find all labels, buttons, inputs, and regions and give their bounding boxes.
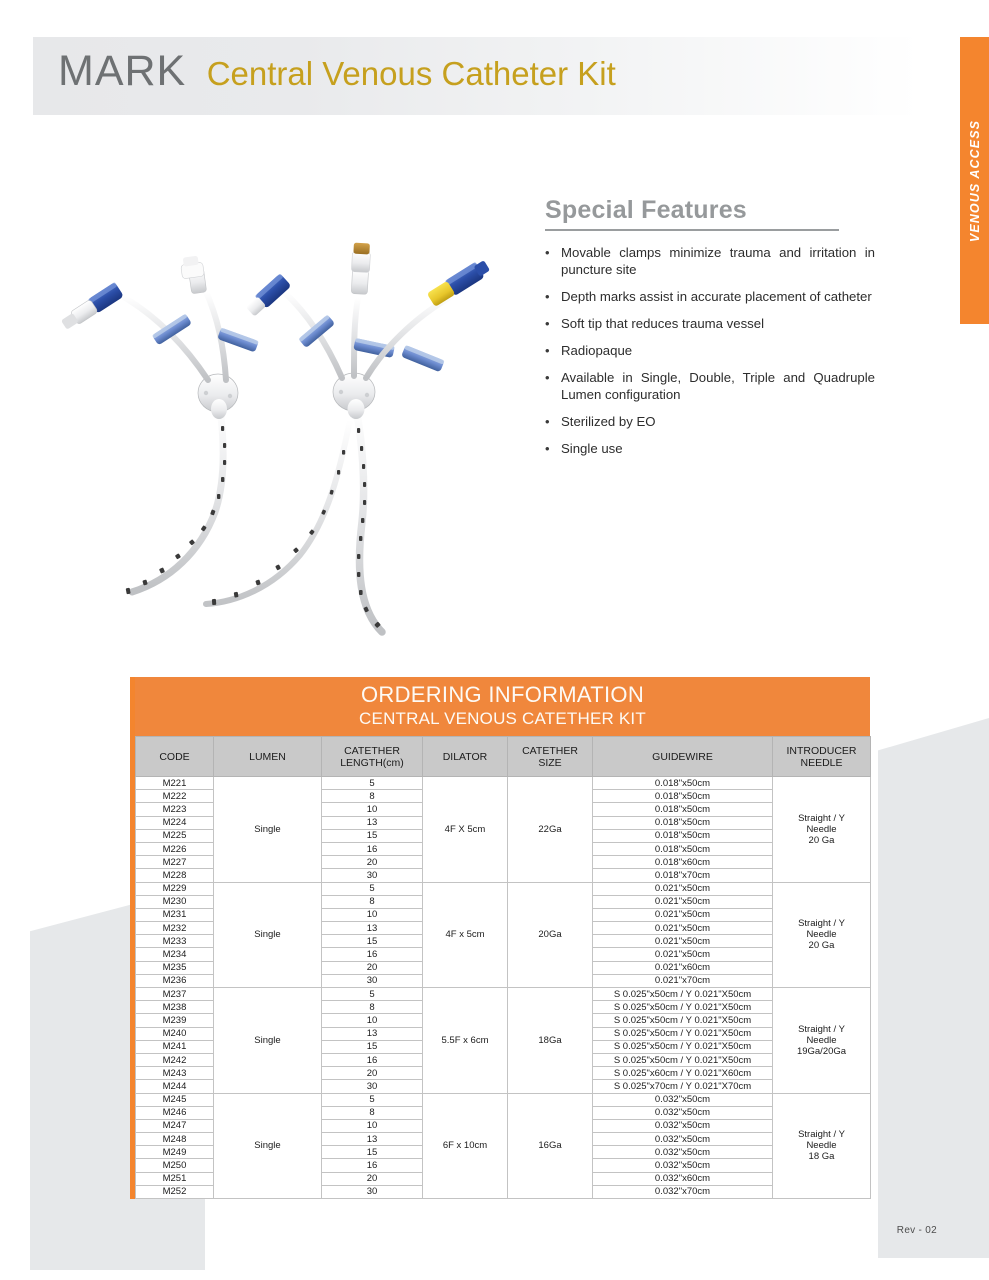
cell-guidewire: 0.021"x60cm [593,961,773,974]
cell-code: M239 [136,1014,214,1027]
cell-length: 30 [322,1185,423,1198]
cell-length: 8 [322,790,423,803]
cell-code: M233 [136,935,214,948]
revision-label: Rev - 02 [897,1225,937,1236]
cell-guidewire: 0.021"x50cm [593,882,773,895]
column-header-needle-line1: INTRODUCER [787,745,857,757]
ordering-banner-title: ORDERING INFORMATION [135,682,870,708]
cell-guidewire: 0.018"x50cm [593,816,773,829]
needle-line3: 19Ga/20Ga [797,1046,846,1057]
cell-guidewire: 0.021"x50cm [593,908,773,921]
cell-needle: Straight / Y Needle 18 Ga [773,1093,871,1199]
cell-dilator: 5.5F x 6cm [423,988,508,1094]
table-row: M237 Single 5 5.5F x 6cm 18Ga S 0.025"x5… [136,988,871,1001]
cell-lumen: Single [214,1093,322,1199]
cell-code: M244 [136,1080,214,1093]
section-tab-venous-access: VENOUS ACCESS [960,37,989,324]
cell-length: 10 [322,1119,423,1132]
cell-code: M243 [136,1067,214,1080]
feature-list-item: • Radiopaque [545,342,875,359]
table-header-row: CODE LUMEN CATETHER LENGTH(cm) DILATOR C… [136,737,871,777]
cell-code: M246 [136,1106,214,1119]
cell-code: M235 [136,961,214,974]
product-photo [10,140,540,660]
cell-length: 30 [322,974,423,987]
column-header-length-line1: CATETHER [344,745,400,757]
cell-length: 10 [322,1014,423,1027]
needle-line1: Straight / Y [798,1024,845,1035]
cell-guidewire: 0.018"x60cm [593,856,773,869]
special-features-section: Special Features • Movable clamps minimi… [545,196,875,467]
cell-guidewire: 0.021"x50cm [593,922,773,935]
needle-line2: Needle [806,929,836,940]
cell-length: 15 [322,1040,423,1053]
cell-code: M248 [136,1133,214,1146]
feature-list-item: • Movable clamps minimize trauma and irr… [545,244,875,278]
cell-length: 13 [322,922,423,935]
cell-guidewire: 0.032"x50cm [593,1146,773,1159]
cell-guidewire: 0.032"x50cm [593,1133,773,1146]
needle-line3: 20 Ga [809,940,835,951]
page-title: MARK Central Venous Catheter Kit [58,50,616,93]
cell-guidewire: 0.021"x50cm [593,935,773,948]
cell-length: 16 [322,1053,423,1066]
cell-length: 8 [322,1001,423,1014]
needle-line3: 20 Ga [809,835,835,846]
cell-length: 5 [322,1093,423,1106]
cell-guidewire: 0.021"x50cm [593,895,773,908]
needle-line3: 18 Ga [809,1151,835,1162]
cell-length: 16 [322,948,423,961]
cell-length: 10 [322,908,423,921]
cell-guidewire: 0.018"x50cm [593,790,773,803]
cell-length: 20 [322,1172,423,1185]
bullet-icon: • [545,440,561,457]
cell-guidewire: 0.032"x50cm [593,1093,773,1106]
cell-code: M228 [136,869,214,882]
cell-guidewire: S 0.025"x50cm / Y 0.021"X50cm [593,1027,773,1040]
cell-code: M224 [136,816,214,829]
column-header-length: CATETHER LENGTH(cm) [322,737,423,777]
section-tab-label: VENOUS ACCESS [968,119,982,241]
cell-dilator: 4F x 5cm [423,882,508,988]
column-header-size-line2: SIZE [538,757,561,769]
cell-code: M242 [136,1053,214,1066]
cell-length: 5 [322,777,423,790]
cell-length: 8 [322,1106,423,1119]
cell-guidewire: S 0.025"x50cm / Y 0.021"X50cm [593,1053,773,1066]
cell-length: 30 [322,1080,423,1093]
needle-line1: Straight / Y [798,813,845,824]
feature-list-item: • Available in Single, Double, Triple an… [545,369,875,403]
cell-length: 15 [322,829,423,842]
feature-text: Radiopaque [561,342,875,359]
column-header-code: CODE [136,737,214,777]
cell-code: M237 [136,988,214,1001]
needle-line1: Straight / Y [798,1129,845,1140]
bullet-icon: • [545,342,561,359]
cell-code: M226 [136,842,214,855]
cell-length: 10 [322,803,423,816]
cell-guidewire: 0.021"x50cm [593,948,773,961]
column-header-size-line1: CATETHER [522,745,578,757]
cell-dilator: 4F X 5cm [423,777,508,883]
cell-length: 5 [322,882,423,895]
cell-code: M241 [136,1040,214,1053]
cell-guidewire: 0.018"x50cm [593,777,773,790]
ordering-banner-subtitle: CENTRAL VENOUS CATETHER KIT [135,708,870,729]
column-header-needle: INTRODUCER NEEDLE [773,737,871,777]
feature-text: Single use [561,440,875,457]
cell-guidewire: 0.018"x50cm [593,803,773,816]
table-body: M221 Single 5 4F X 5cm 22Ga 0.018"x50cm … [136,777,871,1199]
cell-code: M221 [136,777,214,790]
needle-line1: Straight / Y [798,918,845,929]
special-features-title: Special Features [545,196,875,229]
column-header-dilator: DILATOR [423,737,508,777]
product-name: Central Venous Catheter Kit [207,55,616,92]
cell-guidewire: 0.032"x50cm [593,1119,773,1132]
cell-size: 16Ga [508,1093,593,1199]
table-header: CODE LUMEN CATETHER LENGTH(cm) DILATOR C… [136,737,871,777]
feature-text: Depth marks assist in accurate placement… [561,288,875,305]
cell-guidewire: S 0.025"x50cm / Y 0.021"X50cm [593,1014,773,1027]
cell-code: M250 [136,1159,214,1172]
cell-guidewire: 0.018"x50cm [593,829,773,842]
cell-length: 16 [322,842,423,855]
cell-code: M231 [136,908,214,921]
cell-guidewire: S 0.025"x50cm / Y 0.021"X50cm [593,1001,773,1014]
cell-code: M249 [136,1146,214,1159]
cell-lumen: Single [214,988,322,1094]
cell-guidewire: S 0.025"x50cm / Y 0.021"X50cm [593,1040,773,1053]
cell-length: 8 [322,895,423,908]
feature-text: Movable clamps minimize trauma and irrit… [561,244,875,278]
needle-line2: Needle [806,1035,836,1046]
column-header-lumen: LUMEN [214,737,322,777]
bullet-icon: • [545,315,561,332]
cell-size: 22Ga [508,777,593,883]
table-row: M245 Single 5 6F x 10cm 16Ga 0.032"x50cm… [136,1093,871,1106]
column-header-length-line2: LENGTH(cm) [340,757,404,769]
cell-guidewire: 0.032"x50cm [593,1106,773,1119]
ordering-table: CODE LUMEN CATETHER LENGTH(cm) DILATOR C… [135,736,871,1199]
feature-list-item: • Depth marks assist in accurate placeme… [545,288,875,305]
special-features-rule [545,229,839,231]
column-header-guidewire: GUIDEWIRE [593,737,773,777]
cell-lumen: Single [214,777,322,883]
cell-guidewire: 0.032"x60cm [593,1172,773,1185]
cell-code: M236 [136,974,214,987]
cell-code: M247 [136,1119,214,1132]
cell-length: 20 [322,961,423,974]
bullet-icon: • [545,369,561,386]
cell-code: M223 [136,803,214,816]
cell-length: 13 [322,816,423,829]
table-row: M221 Single 5 4F X 5cm 22Ga 0.018"x50cm … [136,777,871,790]
feature-list-item: • Soft tip that reduces trauma vessel [545,315,875,332]
cell-guidewire: S 0.025"x70cm / Y 0.021"X70cm [593,1080,773,1093]
ordering-banner: ORDERING INFORMATION CENTRAL VENOUS CATE… [135,677,870,736]
cell-code: M245 [136,1093,214,1106]
cell-length: 20 [322,1067,423,1080]
cell-needle: Straight / Y Needle 20 Ga [773,777,871,883]
cell-code: M230 [136,895,214,908]
column-header-needle-line2: NEEDLE [800,757,842,769]
cell-code: M251 [136,1172,214,1185]
decorative-band-right [878,718,989,1258]
cell-needle: Straight / Y Needle 20 Ga [773,882,871,988]
cell-needle: Straight / Y Needle 19Ga/20Ga [773,988,871,1094]
feature-text: Available in Single, Double, Triple and … [561,369,875,403]
cell-guidewire: 0.032"x70cm [593,1185,773,1198]
feature-list-item: • Single use [545,440,875,457]
cell-guidewire: S 0.025"x60cm / Y 0.021"X60cm [593,1067,773,1080]
cell-length: 20 [322,856,423,869]
cell-guidewire: 0.018"x70cm [593,869,773,882]
cell-size: 18Ga [508,988,593,1094]
cell-length: 16 [322,1159,423,1172]
cell-code: M240 [136,1027,214,1040]
cell-length: 15 [322,1146,423,1159]
cell-size: 20Ga [508,882,593,988]
cell-lumen: Single [214,882,322,988]
brand-name: MARK [58,47,186,95]
feature-text: Sterilized by EO [561,413,875,430]
cell-guidewire: 0.018"x50cm [593,842,773,855]
ordering-information-section: ORDERING INFORMATION CENTRAL VENOUS CATE… [130,677,870,1199]
cell-code: M227 [136,856,214,869]
bullet-icon: • [545,244,561,261]
cell-code: M229 [136,882,214,895]
bullet-icon: • [545,288,561,305]
cell-code: M238 [136,1001,214,1014]
cell-guidewire: 0.032"x50cm [593,1159,773,1172]
bullet-icon: • [545,413,561,430]
feature-text: Soft tip that reduces trauma vessel [561,315,875,332]
cell-length: 30 [322,869,423,882]
cell-code: M234 [136,948,214,961]
feature-list-item: • Sterilized by EO [545,413,875,430]
column-header-size: CATETHER SIZE [508,737,593,777]
table-row: M229 Single 5 4F x 5cm 20Ga 0.021"x50cm … [136,882,871,895]
cell-code: M232 [136,922,214,935]
cell-guidewire: S 0.025"x50cm / Y 0.021"X50cm [593,988,773,1001]
cell-code: M252 [136,1185,214,1198]
cell-length: 15 [322,935,423,948]
cell-dilator: 6F x 10cm [423,1093,508,1199]
cell-length: 13 [322,1133,423,1146]
cell-code: M225 [136,829,214,842]
cell-guidewire: 0.021"x70cm [593,974,773,987]
needle-line2: Needle [806,824,836,835]
cell-code: M222 [136,790,214,803]
cell-length: 5 [322,988,423,1001]
needle-line2: Needle [806,1140,836,1151]
cell-length: 13 [322,1027,423,1040]
